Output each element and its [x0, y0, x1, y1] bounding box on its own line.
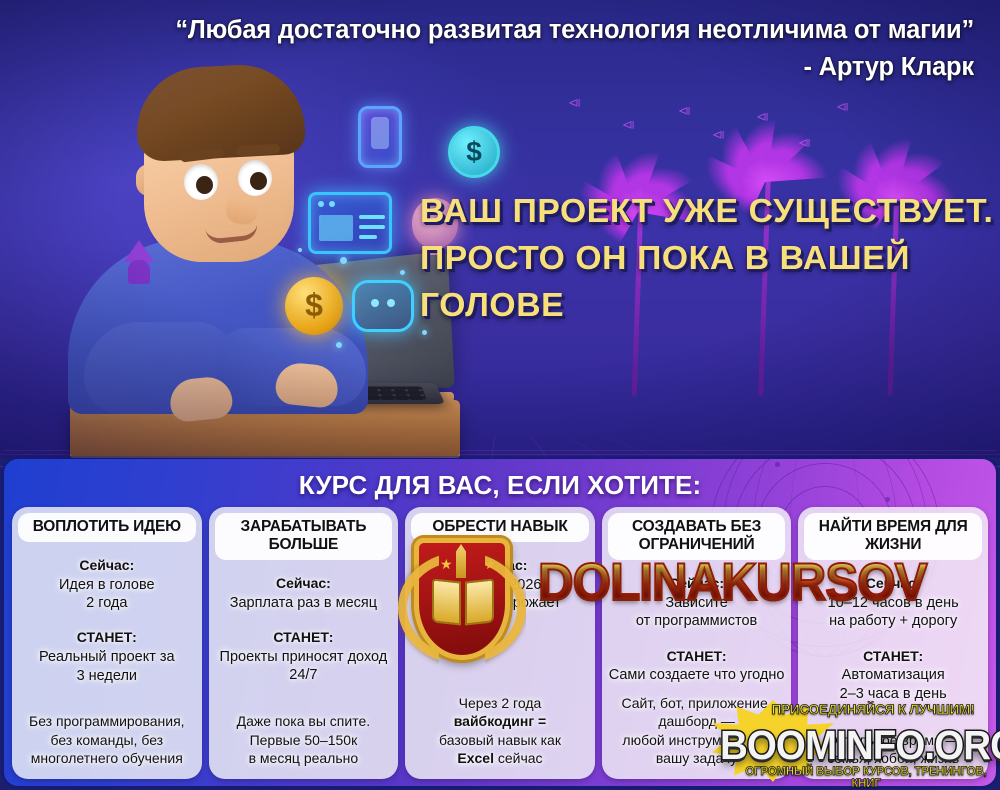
card-spacer: [215, 612, 393, 620]
quote-text: “Любая достаточно развитая технология не…: [175, 16, 974, 44]
benefit-card: СОЗДАВАТЬ БЕЗ ОГРАНИЧЕНИЙСейчас:Зависите…: [602, 507, 792, 779]
card-will-value: Реальный проект за3 недели: [18, 648, 196, 685]
benefit-card: НАЙТИ ВРЕМЯ ДЛЯ ЖИЗНИСейчас:10–12 часов …: [798, 507, 988, 779]
card-spacer: [608, 631, 786, 639]
card-body: Сейчас:10–12 часов в деньна работу + дор…: [804, 566, 982, 769]
card-footer: Сайт, бот, приложение,дашборд —любой инс…: [608, 694, 786, 769]
card-spacer: [804, 631, 982, 639]
card-will-label: СТАНЕТ:: [804, 648, 982, 665]
card-now-value: 10–12 часов в деньна работу + дорогу: [804, 594, 982, 631]
card-footer: Через 2 годавайбкодинг =базовый навык ка…: [411, 694, 589, 769]
card-will-label: СТАНЕТ:: [215, 629, 393, 646]
card-now-label: Сейчас:: [804, 575, 982, 592]
benefit-card: ОБРЕСТИ НАВЫКСейчас:Умение 2026,которое …: [405, 507, 595, 779]
benefit-card: ВОПЛОТИТЬ ИДЕЮСейчас:Идея в голове2 года…: [12, 507, 202, 779]
card-body: Сейчас:Зависитеот программистовСТАНЕТ:Са…: [608, 566, 786, 769]
panel-title: КУРС ДЛЯ ВАС, ЕСЛИ ХОТИТЕ:: [4, 470, 996, 501]
hero-headline: ВАШ ПРОЕКТ УЖЕ СУЩЕСТВУЕТ. ПРОСТО ОН ПОК…: [420, 188, 986, 329]
hero-section: ⧏ ⧏ ⧏ ⧏ ⧏ ⧏ ⧏: [0, 0, 1000, 458]
card-title: ЗАРАБАТЫВАТЬ БОЛЬШЕ: [215, 513, 393, 560]
card-title: СОЗДАВАТЬ БЕЗ ОГРАНИЧЕНИЙ: [608, 513, 786, 560]
card-footer: Даже пока вы спите.Первые 50–150кв месяц…: [215, 712, 393, 769]
card-title: ВОПЛОТИТЬ ИДЕЮ: [18, 513, 196, 542]
card-body: Сейчас:Идея в голове2 годаСТАНЕТ:Реальны…: [18, 548, 196, 769]
card-title: ОБРЕСТИ НАВЫК: [411, 513, 589, 542]
quote-author: - Артур Кларк: [154, 51, 974, 85]
card-now-label: Сейчас:: [18, 557, 196, 574]
card-will-label: СТАНЕТ:: [608, 648, 786, 665]
card-now-label: Сейчас:: [215, 575, 393, 592]
card-footer: Без программирования,без команды, безмно…: [18, 712, 196, 769]
card-spacer: [411, 612, 589, 628]
card-will-value: Проекты приносят доход24/7: [215, 648, 393, 685]
benefits-panel: КУРС ДЛЯ ВАС, ЕСЛИ ХОТИТЕ: ВОПЛОТИТЬ ИДЕ…: [4, 459, 996, 786]
card-title: НАЙТИ ВРЕМЯ ДЛЯ ЖИЗНИ: [804, 513, 982, 560]
benefit-cards-row: ВОПЛОТИТЬ ИДЕЮСейчас:Идея в голове2 года…: [12, 507, 988, 779]
card-now-value: Зависитеот программистов: [608, 594, 786, 631]
card-now-value: Умение 2026,которое дорожает: [411, 576, 589, 613]
card-footer: Остальное время —семья, хобби, жизнь: [804, 731, 982, 769]
card-now-label: Сейчас:: [411, 557, 589, 574]
card-will-label: СТАНЕТ:: [18, 629, 196, 646]
promo-image: ⧏ ⧏ ⧏ ⧏ ⧏ ⧏ ⧏: [0, 0, 1000, 790]
card-spacer: [18, 612, 196, 620]
card-now-value: Зарплата раз в месяц: [215, 594, 393, 612]
card-will-value: Сами создаете что угодно: [608, 666, 786, 684]
benefit-card: ЗАРАБАТЫВАТЬ БОЛЬШЕСейчас:Зарплата раз в…: [209, 507, 399, 779]
card-body: Сейчас:Умение 2026,которое дорожаетЧерез…: [411, 548, 589, 769]
card-now-value: Идея в голове2 года: [18, 576, 196, 613]
quote-block: “Любая достаточно развитая технология не…: [154, 14, 974, 84]
card-will-value: Автоматизация2–3 часа в день: [804, 666, 982, 703]
card-now-label: Сейчас:: [608, 575, 786, 592]
headline-line-1: ВАШ ПРОЕКТ УЖЕ СУЩЕСТВУЕТ.: [420, 188, 997, 235]
card-body: Сейчас:Зарплата раз в месяцСТАНЕТ:Проект…: [215, 566, 393, 769]
headline-line-2: ПРОСТО ОН ПОКА В ВАШЕЙ ГОЛОВЕ: [420, 235, 997, 329]
